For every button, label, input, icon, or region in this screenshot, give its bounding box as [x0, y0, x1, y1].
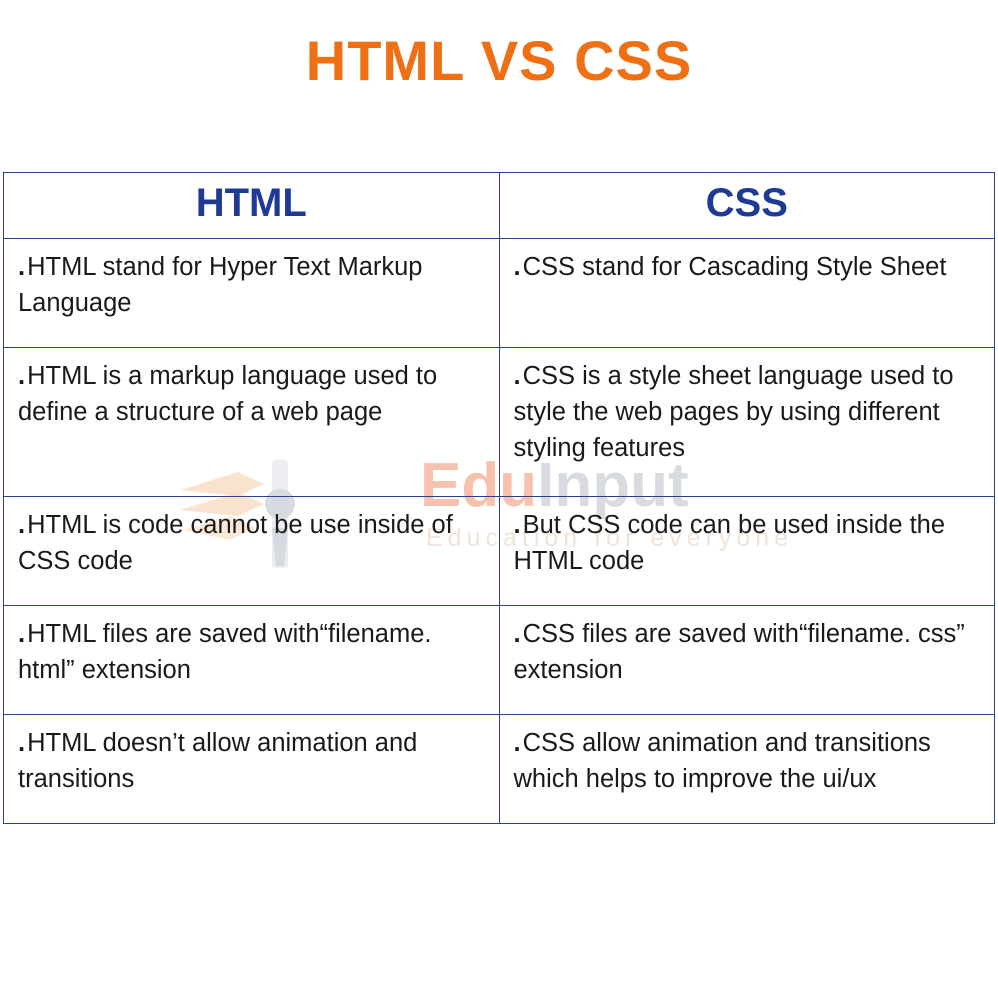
cell-css-1-text: CSS stand for Cascading Style Sheet	[523, 253, 947, 281]
cell-html-2: .HTML is a markup language used to defin…	[4, 348, 500, 497]
comparison-table-wrapper: HTML CSS .HTML stand for Hyper Text Mark…	[3, 172, 995, 824]
cell-css-2: .CSS is a style sheet language used to s…	[499, 348, 995, 497]
bullet-icon: .	[18, 253, 25, 281]
table-row: .HTML doesn’t allow animation and transi…	[4, 715, 995, 824]
cell-css-5: .CSS allow animation and transitions whi…	[499, 715, 995, 824]
cell-html-1: .HTML stand for Hyper Text Markup Langua…	[4, 239, 500, 348]
cell-html-2-text: HTML is a markup language used to define…	[18, 362, 437, 426]
cell-css-4-text: CSS files are saved with“filename. css” …	[514, 620, 965, 684]
bullet-icon: .	[18, 511, 25, 539]
page-root: HTML VS CSS EduInput Education for every…	[0, 0, 998, 998]
cell-css-3: .But CSS code can be used inside the HTM…	[499, 497, 995, 606]
bullet-icon: .	[18, 620, 25, 648]
bullet-icon: .	[18, 729, 25, 757]
cell-html-1-text: HTML stand for Hyper Text Markup Languag…	[18, 253, 422, 317]
cell-css-4: .CSS files are saved with“filename. css”…	[499, 606, 995, 715]
table-header-row: HTML CSS	[4, 173, 995, 239]
table-body: .HTML stand for Hyper Text Markup Langua…	[4, 239, 995, 824]
cell-html-5: .HTML doesn’t allow animation and transi…	[4, 715, 500, 824]
comparison-table: HTML CSS .HTML stand for Hyper Text Mark…	[3, 172, 995, 824]
bullet-icon: .	[18, 362, 25, 390]
table-row: .HTML stand for Hyper Text Markup Langua…	[4, 239, 995, 348]
cell-html-3-text: HTML is code cannot be use inside of CSS…	[18, 511, 453, 575]
cell-html-5-text: HTML doesn’t allow animation and transit…	[18, 729, 417, 793]
bullet-icon: .	[514, 362, 521, 390]
bullet-icon: .	[514, 620, 521, 648]
table-row: .HTML files are saved with“filename. htm…	[4, 606, 995, 715]
cell-html-4-text: HTML files are saved with“filename. html…	[18, 620, 431, 684]
table-row: .HTML is a markup language used to defin…	[4, 348, 995, 497]
cell-css-5-text: CSS allow animation and transitions whic…	[514, 729, 931, 793]
cell-html-4: .HTML files are saved with“filename. htm…	[4, 606, 500, 715]
bullet-icon: .	[514, 253, 521, 281]
bullet-icon: .	[514, 511, 521, 539]
bullet-icon: .	[514, 729, 521, 757]
cell-css-1: .CSS stand for Cascading Style Sheet	[499, 239, 995, 348]
page-title: HTML VS CSS	[0, 28, 998, 93]
column-header-html: HTML	[4, 173, 500, 239]
cell-html-3: .HTML is code cannot be use inside of CS…	[4, 497, 500, 606]
cell-css-2-text: CSS is a style sheet language used to st…	[514, 362, 954, 462]
cell-css-3-text: But CSS code can be used inside the HTML…	[514, 511, 946, 575]
column-header-css: CSS	[499, 173, 995, 239]
table-row: .HTML is code cannot be use inside of CS…	[4, 497, 995, 606]
table-head: HTML CSS	[4, 173, 995, 239]
